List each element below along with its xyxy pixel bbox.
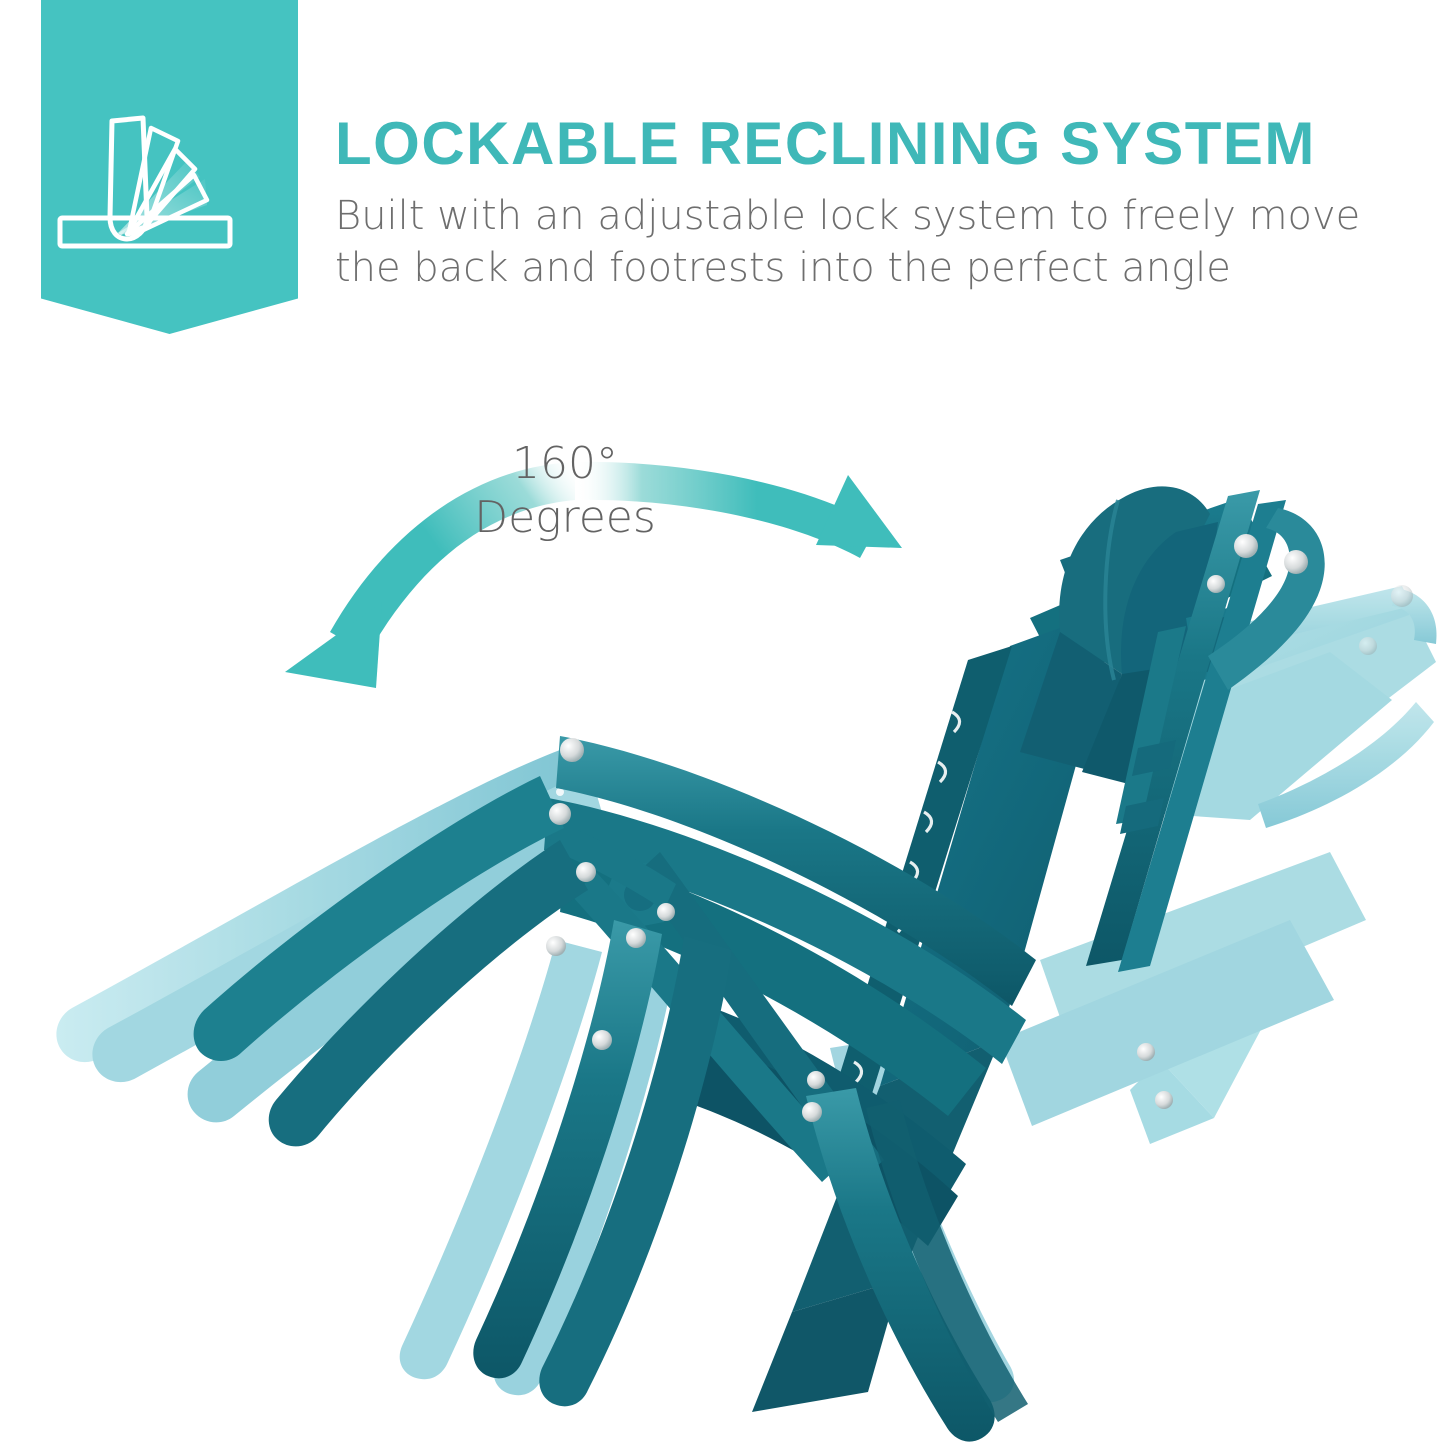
- page-title: LOCKABLE RECLINING SYSTEM: [335, 112, 1415, 176]
- zero-gravity-recliner-chair: [0, 400, 1445, 1445]
- product-illustration: [0, 400, 1445, 1445]
- header-text-block: LOCKABLE RECLINING SYSTEM Built with an …: [335, 112, 1415, 294]
- page-subtitle: Built with an adjustable lock system to …: [335, 190, 1415, 294]
- reclining-back-angles-icon: [55, 105, 245, 255]
- infographic-page: LOCKABLE RECLINING SYSTEM Built with an …: [0, 0, 1445, 1445]
